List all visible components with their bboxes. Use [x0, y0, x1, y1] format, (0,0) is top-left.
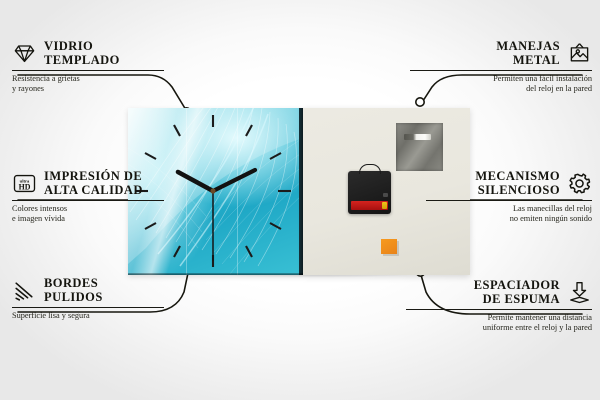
feature-desc-line1: Resistencia a grietas [12, 74, 164, 84]
foam-spacer [381, 239, 397, 254]
feature-description: Colores intensos e imagen vívida [12, 204, 164, 224]
feature-desc-line1: Colores intensos [12, 204, 164, 214]
feature-title-line2: PULIDOS [44, 291, 103, 305]
feature-divider [410, 70, 592, 71]
feature-description: Las manecillas del reloj no emiten ningú… [426, 204, 592, 224]
picture-frame-icon [567, 41, 592, 66]
feature-title: MANEJAS METAL [496, 40, 560, 67]
feature-title-line1: MANEJAS [496, 40, 560, 54]
clock-mechanism [348, 171, 391, 214]
feature-title-line2: ALTA CALIDAD [44, 184, 143, 198]
feature-desc-line2: del reloj en la pared [410, 84, 592, 94]
feature-title-line1: VIDRIO [44, 40, 120, 54]
feature-header: ESPACIADOR DE ESPUMA [406, 279, 592, 306]
feature-divider [406, 309, 592, 310]
feature-impresion-alta-calidad: ultra HD IMPRESIÓN DE ALTA CALIDAD Color… [12, 170, 164, 224]
feature-vidrio-templado: VIDRIO TEMPLADO Resistencia a grietas y … [12, 40, 164, 94]
feature-title-line1: MECANISMO [475, 170, 560, 184]
feature-desc-line2: e imagen vívida [12, 214, 164, 224]
feature-header: VIDRIO TEMPLADO [12, 40, 164, 67]
feature-title-line1: BORDES [44, 277, 103, 291]
svg-text:HD: HD [19, 182, 31, 191]
feature-title-line2: TEMPLADO [44, 54, 120, 68]
feature-title: BORDES PULIDOS [44, 277, 103, 304]
feature-title: IMPRESIÓN DE ALTA CALIDAD [44, 170, 143, 197]
feature-desc-line2: uniforme entre el reloj y la pared [406, 323, 592, 333]
mechanism-hook [359, 164, 381, 174]
feature-desc-line1: Superficie lisa y segura [12, 311, 164, 321]
connector-dot-manejas [416, 98, 424, 106]
feature-divider [12, 307, 164, 308]
metal-hanger-bracket [396, 123, 443, 171]
feature-manejas-metal: MANEJAS METAL Permiten una fácil instala… [410, 40, 592, 94]
feature-divider [12, 200, 164, 201]
feature-desc-line1: Permiten una fácil instalación [410, 74, 592, 84]
feature-description: Superficie lisa y segura [12, 311, 164, 321]
feature-title: ESPACIADOR DE ESPUMA [474, 279, 560, 306]
battery-compartment [351, 201, 388, 210]
feature-espaciador-de-espuma: ESPACIADOR DE ESPUMA Permite mantener un… [406, 279, 592, 333]
infographic-canvas: VIDRIO TEMPLADO Resistencia a grietas y … [0, 0, 600, 400]
clock-center-cap [210, 188, 215, 193]
feature-desc-line1: Las manecillas del reloj [426, 204, 592, 214]
feature-bordes-pulidos: BORDES PULIDOS Superficie lisa y segura [12, 277, 164, 321]
product-photo [128, 108, 470, 275]
feature-mecanismo-silencioso: MECANISMO SILENCIOSO Las manecillas del … [426, 170, 592, 224]
feature-header: ultra HD IMPRESIÓN DE ALTA CALIDAD [12, 170, 164, 197]
ultra-hd-icon: ultra HD [12, 171, 37, 196]
feature-header: MECANISMO SILENCIOSO [426, 170, 592, 197]
hanger-slot [404, 134, 431, 140]
feature-title: VIDRIO TEMPLADO [44, 40, 120, 67]
feature-divider [426, 200, 592, 201]
clock-hands [178, 170, 255, 260]
feature-header: BORDES PULIDOS [12, 277, 164, 304]
spacer-arrow-icon [567, 280, 592, 305]
mechanism-detail [383, 193, 388, 197]
diamond-icon [12, 41, 37, 66]
feature-title: MECANISMO SILENCIOSO [475, 170, 560, 197]
feature-title-line1: ESPACIADOR [474, 279, 560, 293]
feature-title-line2: SILENCIOSO [475, 184, 560, 198]
feature-description: Permiten una fácil instalación del reloj… [410, 74, 592, 94]
feature-title-line2: METAL [496, 54, 560, 68]
feature-divider [12, 70, 164, 71]
feature-desc-line2: y rayones [12, 84, 164, 94]
feature-title-line2: DE ESPUMA [474, 293, 560, 307]
feature-description: Permite mantener una distancia uniforme … [406, 313, 592, 333]
polished-edges-icon [12, 278, 37, 303]
feature-desc-line2: no emiten ningún sonido [426, 214, 592, 224]
feature-description: Resistencia a grietas y rayones [12, 74, 164, 94]
feature-desc-line1: Permite mantener una distancia [406, 313, 592, 323]
glass-bottom-edge [128, 273, 303, 275]
gear-icon [567, 171, 592, 196]
feature-title-line1: IMPRESIÓN DE [44, 170, 143, 184]
feature-header: MANEJAS METAL [410, 40, 592, 67]
